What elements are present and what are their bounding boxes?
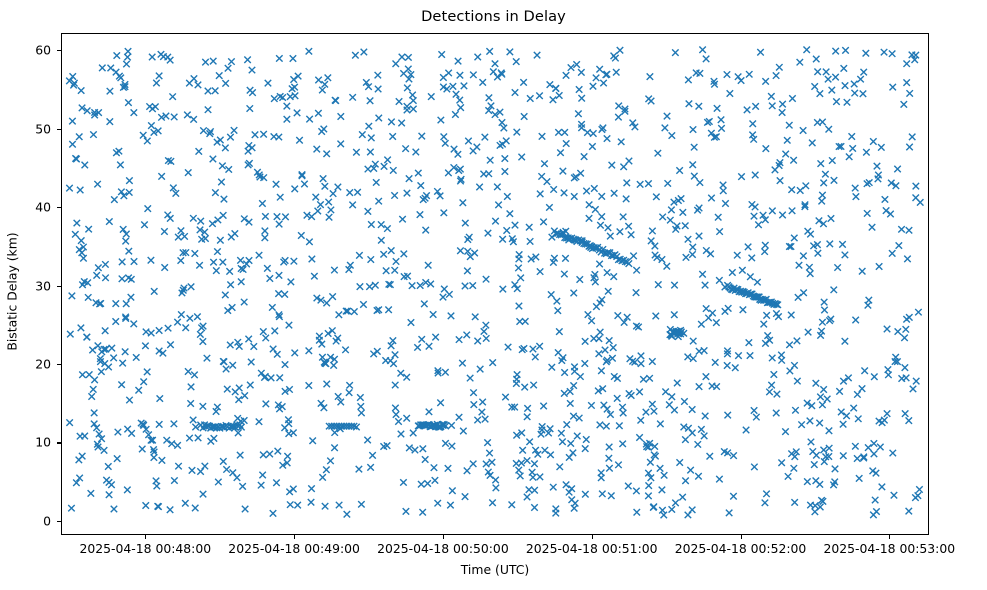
scatter-marker xyxy=(78,325,84,331)
scatter-marker xyxy=(274,351,280,357)
scatter-marker xyxy=(583,188,589,194)
plot-area xyxy=(61,33,929,535)
matplotlib-figure: Detections in Delay 2025-04-18 00:48:002… xyxy=(0,0,987,590)
scatter-marker xyxy=(750,121,756,127)
scatter-marker xyxy=(144,138,150,144)
scatter-marker xyxy=(68,505,74,511)
scatter-marker xyxy=(540,219,546,225)
scatter-marker xyxy=(465,138,471,144)
scatter-marker xyxy=(284,103,290,109)
scatter-marker xyxy=(330,362,336,368)
scatter-marker xyxy=(816,420,822,426)
scatter-marker xyxy=(832,466,838,472)
scatter-marker xyxy=(906,417,912,423)
scatter-marker xyxy=(611,190,617,196)
scatter-marker xyxy=(241,299,247,305)
scatter-marker xyxy=(606,465,612,471)
scatter-marker xyxy=(805,329,811,335)
scatter-marker xyxy=(322,503,328,509)
scatter-marker xyxy=(691,173,697,179)
scatter-marker xyxy=(685,77,691,83)
scatter-marker xyxy=(762,78,768,84)
scatter-marker xyxy=(317,201,323,207)
scatter-marker xyxy=(455,58,461,64)
scatter-marker xyxy=(852,185,858,191)
scatter-marker xyxy=(126,177,132,183)
scatter-marker xyxy=(489,359,495,365)
x-tick-mark xyxy=(592,535,593,539)
scatter-marker xyxy=(469,282,475,288)
scatter-marker xyxy=(288,279,294,285)
scatter-marker xyxy=(248,359,254,365)
scatter-marker xyxy=(422,456,428,462)
scatter-marker xyxy=(729,269,735,275)
scatter-marker xyxy=(389,133,395,139)
scatter-marker xyxy=(896,242,902,248)
scatter-marker xyxy=(357,394,363,400)
scatter-marker xyxy=(871,451,877,457)
scatter-marker xyxy=(689,162,695,168)
scatter-marker xyxy=(550,186,556,192)
scatter-marker xyxy=(753,414,759,420)
scatter-marker xyxy=(141,222,147,228)
scatter-marker xyxy=(236,385,242,391)
scatter-marker xyxy=(101,447,107,453)
scatter-marker xyxy=(620,214,626,220)
scatter-marker xyxy=(431,464,437,470)
scatter-marker xyxy=(294,110,300,116)
scatter-marker xyxy=(680,209,686,215)
scatter-marker xyxy=(789,208,795,214)
scatter-marker xyxy=(434,500,440,506)
scatter-marker xyxy=(615,312,621,318)
scatter-marker xyxy=(708,195,714,201)
scatter-marker xyxy=(669,393,675,399)
scatter-marker xyxy=(231,127,237,133)
scatter-marker xyxy=(167,507,173,513)
scatter-marker xyxy=(192,250,198,256)
scatter-marker xyxy=(714,105,720,111)
scatter-marker xyxy=(220,458,226,464)
scatter-marker xyxy=(470,389,476,395)
scatter-marker xyxy=(612,55,618,61)
scatter-marker xyxy=(556,92,562,98)
scatter-marker xyxy=(636,389,642,395)
scatter-marker xyxy=(602,347,608,353)
scatter-marker xyxy=(277,194,283,200)
scatter-marker xyxy=(118,381,124,387)
scatter-marker xyxy=(726,510,732,516)
scatter-marker xyxy=(372,282,378,288)
scatter-marker xyxy=(218,179,224,185)
scatter-marker xyxy=(526,224,532,230)
scatter-marker xyxy=(84,334,90,340)
scatter-marker xyxy=(779,109,785,115)
scatter-marker xyxy=(349,94,355,100)
scatter-marker xyxy=(596,351,602,357)
scatter-marker xyxy=(910,386,916,392)
scatter-marker xyxy=(747,352,753,358)
scatter-marker xyxy=(819,402,825,408)
scatter-marker xyxy=(464,467,470,473)
scatter-marker xyxy=(878,144,884,150)
scatter-marker xyxy=(913,183,919,189)
scatter-marker xyxy=(72,231,78,237)
scatter-marker xyxy=(796,262,802,268)
scatter-marker xyxy=(582,491,588,497)
scatter-marker xyxy=(479,79,485,85)
scatter-marker xyxy=(782,151,788,157)
scatter-marker xyxy=(200,338,206,344)
scatter-marker xyxy=(222,80,228,86)
scatter-marker xyxy=(352,52,358,58)
scatter-marker xyxy=(623,196,629,202)
scatter-marker xyxy=(452,111,458,117)
scatter-marker xyxy=(190,215,196,221)
scatter-marker xyxy=(119,259,125,265)
scatter-marker xyxy=(167,215,173,221)
scatter-marker xyxy=(626,390,632,396)
scatter-marker xyxy=(852,443,858,449)
scatter-marker xyxy=(182,500,188,506)
scatter-marker xyxy=(290,76,296,82)
scatter-marker xyxy=(889,250,895,256)
scatter-marker xyxy=(125,275,131,281)
scatter-marker xyxy=(79,250,85,256)
y-tick-label: 10 xyxy=(35,435,58,450)
scatter-marker xyxy=(821,299,827,305)
scatter-marker xyxy=(367,97,373,103)
scatter-marker xyxy=(657,465,663,471)
scatter-marker xyxy=(903,326,909,332)
scatter-marker xyxy=(366,283,372,289)
scatter-marker xyxy=(916,486,922,492)
scatter-marker xyxy=(817,481,823,487)
scatter-marker xyxy=(885,372,891,378)
chart-title: Detections in Delay xyxy=(0,8,987,25)
scatter-marker xyxy=(213,267,219,273)
scatter-marker xyxy=(576,86,582,92)
scatter-marker xyxy=(834,264,840,270)
scatter-marker xyxy=(441,134,447,140)
scatter-marker xyxy=(645,482,651,488)
scatter-marker xyxy=(204,355,210,361)
scatter-marker xyxy=(564,421,570,427)
scatter-marker xyxy=(557,464,563,470)
scatter-marker xyxy=(590,83,596,89)
scatter-marker xyxy=(360,301,366,307)
scatter-marker xyxy=(854,455,860,461)
scatter-marker xyxy=(159,457,165,463)
scatter-marker xyxy=(871,440,877,446)
scatter-marker xyxy=(586,215,592,221)
scatter-marker xyxy=(503,138,509,144)
scatter-marker xyxy=(751,213,757,219)
x-tick-mark xyxy=(889,535,890,539)
scatter-marker xyxy=(817,394,823,400)
scatter-marker xyxy=(850,405,856,411)
scatter-marker xyxy=(423,192,429,198)
scatter-marker xyxy=(126,397,132,403)
scatter-marker xyxy=(560,168,566,174)
scatter-marker xyxy=(556,328,562,334)
scatter-marker xyxy=(263,401,269,407)
scatter-marker xyxy=(225,65,231,71)
scatter-marker xyxy=(385,307,391,313)
scatter-marker xyxy=(597,222,603,228)
scatter-marker xyxy=(273,480,279,486)
scatter-marker xyxy=(353,149,359,155)
scatter-marker xyxy=(682,436,688,442)
scatter-marker xyxy=(915,309,921,315)
scatter-marker xyxy=(205,106,211,112)
scatter-marker xyxy=(70,73,76,79)
scatter-marker xyxy=(85,294,91,300)
scatter-marker xyxy=(492,477,498,483)
scatter-marker xyxy=(480,171,486,177)
scatter-marker xyxy=(875,172,881,178)
scatter-marker xyxy=(619,404,625,410)
scatter-marker xyxy=(615,103,621,109)
scatter-marker xyxy=(827,241,833,247)
scatter-marker xyxy=(842,47,848,53)
scatter-marker xyxy=(561,190,567,196)
y-tick-label: 60 xyxy=(35,43,58,58)
scatter-marker xyxy=(457,104,463,110)
scatter-marker xyxy=(671,407,677,413)
scatter-marker xyxy=(570,413,576,419)
scatter-marker xyxy=(536,343,542,349)
scatter-marker xyxy=(393,61,399,67)
scatter-marker xyxy=(633,267,639,273)
scatter-marker xyxy=(807,418,813,424)
scatter-marker xyxy=(235,396,241,402)
scatter-marker xyxy=(212,88,218,94)
scatter-marker xyxy=(366,123,372,129)
scatter-marker xyxy=(409,282,415,288)
scatter-marker xyxy=(227,282,233,288)
scatter-marker xyxy=(450,83,456,89)
scatter-marker xyxy=(610,273,616,279)
scatter-marker xyxy=(210,259,216,265)
scatter-marker xyxy=(872,497,878,503)
scatter-marker xyxy=(432,334,438,340)
scatter-marker xyxy=(864,180,870,186)
scatter-marker xyxy=(190,417,196,423)
scatter-marker xyxy=(409,92,415,98)
scatter-marker xyxy=(398,431,404,437)
scatter-marker xyxy=(295,73,301,79)
scatter-marker xyxy=(501,125,507,131)
scatter-marker xyxy=(413,149,419,155)
scatter-marker xyxy=(620,164,626,170)
scatter-marker xyxy=(309,256,315,262)
scatter-marker xyxy=(392,405,398,411)
scatter-marker xyxy=(792,407,798,413)
scatter-marker xyxy=(392,352,398,358)
scatter-marker xyxy=(210,58,216,64)
scatter-marker xyxy=(387,357,393,363)
scatter-marker xyxy=(358,403,364,409)
scatter-marker xyxy=(773,72,779,78)
scatter-marker xyxy=(178,311,184,317)
scatter-marker xyxy=(615,114,621,120)
scatter-marker xyxy=(819,192,825,198)
scatter-marker xyxy=(274,213,280,219)
scatter-marker xyxy=(863,50,869,56)
scatter-marker xyxy=(223,366,229,372)
scatter-marker xyxy=(320,175,326,181)
scatter-marker xyxy=(820,447,826,453)
scatter-marker xyxy=(319,474,325,480)
scatter-marker xyxy=(464,268,470,274)
scatter-marker xyxy=(264,265,270,271)
scatter-marker xyxy=(683,254,689,260)
scatter-marker xyxy=(403,415,409,421)
scatter-marker xyxy=(750,136,756,142)
scatter-marker xyxy=(763,312,769,318)
scatter-marker xyxy=(813,56,819,62)
scatter-marker xyxy=(471,250,477,256)
scatter-marker xyxy=(237,452,243,458)
scatter-marker xyxy=(315,77,321,83)
scatter-marker xyxy=(330,190,336,196)
scatter-marker xyxy=(270,346,276,352)
scatter-marker xyxy=(882,196,888,202)
scatter-marker xyxy=(260,328,266,334)
scatter-marker xyxy=(596,261,602,267)
scatter-marker xyxy=(743,427,749,433)
scatter-marker xyxy=(367,464,373,470)
scatter-marker xyxy=(624,180,630,186)
scatter-marker xyxy=(707,251,713,257)
scatter-marker xyxy=(655,150,661,156)
scatter-marker xyxy=(687,467,693,473)
scatter-marker xyxy=(185,368,191,374)
scatter-marker xyxy=(906,144,912,150)
scatter-marker xyxy=(375,72,381,78)
scatter-marker xyxy=(78,237,84,243)
scatter-marker xyxy=(527,238,533,244)
scatter-marker xyxy=(123,61,129,67)
scatter-marker xyxy=(604,269,610,275)
scatter-marker xyxy=(131,109,137,115)
scatter-marker xyxy=(571,193,577,199)
scatter-marker xyxy=(619,441,625,447)
scatter-marker xyxy=(730,493,736,499)
scatter-marker xyxy=(442,369,448,375)
scatter-marker xyxy=(550,96,556,102)
scatter-marker xyxy=(689,251,695,257)
scatter-marker xyxy=(299,171,305,177)
scatter-marker xyxy=(148,257,154,263)
scatter-marker xyxy=(438,117,444,123)
scatter-marker xyxy=(696,383,702,389)
scatter-marker xyxy=(181,233,187,239)
scatter-marker xyxy=(268,375,274,381)
x-tick-mark xyxy=(741,535,742,539)
scatter-marker xyxy=(588,402,594,408)
scatter-marker xyxy=(336,312,342,318)
scatter-marker xyxy=(323,466,329,472)
scatter-marker xyxy=(653,313,659,319)
scatter-marker xyxy=(122,238,128,244)
scatter-marker xyxy=(315,110,321,116)
scatter-marker xyxy=(226,268,232,274)
scatter-marker xyxy=(676,167,682,173)
scatter-marker xyxy=(116,148,122,154)
scatter-marker xyxy=(466,234,472,240)
scatter-marker xyxy=(346,382,352,388)
scatter-marker xyxy=(645,96,651,102)
scatter-marker xyxy=(740,307,746,313)
scatter-marker xyxy=(690,355,696,361)
scatter-marker xyxy=(829,87,835,93)
scatter-marker xyxy=(391,192,397,198)
scatter-marker xyxy=(404,85,410,91)
scatter-marker xyxy=(456,414,462,420)
scatter-marker xyxy=(381,163,387,169)
scatter-marker xyxy=(901,101,907,107)
scatter-marker xyxy=(613,69,619,75)
scatter-marker xyxy=(617,228,623,234)
scatter-marker xyxy=(115,429,121,435)
scatter-marker xyxy=(275,448,281,454)
scatter-marker xyxy=(576,415,582,421)
scatter-marker xyxy=(260,452,266,458)
scatter-marker xyxy=(607,233,613,239)
scatter-marker xyxy=(85,226,91,232)
scatter-marker xyxy=(128,430,134,436)
scatter-marker xyxy=(309,438,315,444)
scatter-marker xyxy=(291,186,297,192)
scatter-marker xyxy=(98,368,104,374)
scatter-marker xyxy=(306,347,312,353)
scatter-marker xyxy=(547,81,553,87)
scatter-marker xyxy=(840,453,846,459)
scatter-marker xyxy=(581,153,587,159)
scatter-marker xyxy=(354,189,360,195)
scatter-marker xyxy=(208,438,214,444)
scatter-marker xyxy=(227,134,233,140)
scatter-marker xyxy=(761,248,767,254)
scatter-marker xyxy=(561,390,567,396)
scatter-marker xyxy=(122,348,128,354)
scatter-marker xyxy=(299,173,305,179)
scatter-marker xyxy=(440,74,446,80)
scatter-marker xyxy=(585,311,591,317)
scatter-marker xyxy=(400,479,406,485)
scatter-marker xyxy=(814,119,820,125)
x-tick-mark xyxy=(294,535,295,539)
scatter-marker xyxy=(153,80,159,86)
scatter-marker xyxy=(514,371,520,377)
scatter-marker xyxy=(634,509,640,515)
scatter-marker xyxy=(119,276,125,282)
scatter-marker xyxy=(157,395,163,401)
scatter-marker xyxy=(852,317,858,323)
scatter-marker xyxy=(522,318,528,324)
scatter-marker xyxy=(149,54,155,60)
scatter-marker xyxy=(311,273,317,279)
scatter-marker xyxy=(718,117,724,123)
scatter-marker xyxy=(861,454,867,460)
scatter-marker xyxy=(769,208,775,214)
scatter-marker xyxy=(359,131,365,137)
scatter-marker xyxy=(891,492,897,498)
scatter-marker xyxy=(212,189,218,195)
scatter-marker xyxy=(616,422,622,428)
